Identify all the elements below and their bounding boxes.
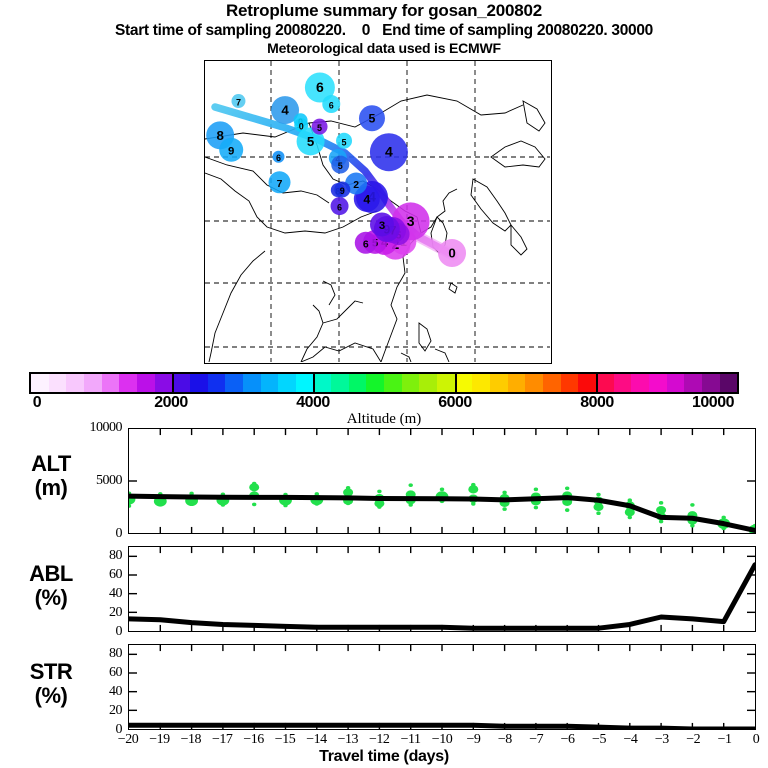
y-tick-label: 40 — [56, 684, 122, 700]
map-marker-label: 3 — [379, 220, 385, 232]
map-marker: 5 — [359, 105, 385, 131]
altitude-scatter-dot — [189, 501, 193, 505]
alt-timeseries-panel — [128, 428, 756, 534]
colorbar-segment — [631, 374, 649, 392]
map-marker-label: 3 — [407, 213, 415, 229]
colorbar-segment — [31, 374, 49, 392]
y-tick-label: 20 — [56, 703, 122, 719]
colorbar-segment — [349, 374, 367, 392]
map-marker: 7 — [269, 171, 291, 193]
altitude-scatter-dot — [502, 507, 506, 511]
y-tick-label: 80 — [56, 548, 122, 564]
map-marker-label: 9 — [340, 186, 345, 196]
colorbar-segment — [243, 374, 261, 392]
y-tick-label: 20 — [56, 605, 122, 621]
x-tick-label: −17 — [212, 732, 232, 748]
map-marker-label: 6 — [363, 239, 369, 250]
colorbar-segment — [543, 374, 561, 392]
altitude-scatter-dot — [440, 487, 444, 491]
altitude-scatter-dot — [565, 486, 569, 490]
y-tick-label: 80 — [56, 646, 122, 662]
y-tick-label: 10000 — [56, 420, 122, 436]
x-tick-label: −19 — [149, 732, 169, 748]
altitude-scatter-dot — [690, 524, 694, 528]
altitude-scatter-dot — [628, 516, 632, 520]
x-tick-label: −18 — [181, 732, 201, 748]
colorbar-segment — [225, 374, 243, 392]
colorbar-segment — [455, 374, 473, 392]
map-marker: 0 — [438, 239, 466, 267]
altitude-scatter-dot — [129, 504, 131, 508]
altitude-scatter-dot — [408, 503, 412, 507]
map-marker-label: 5 — [307, 134, 315, 149]
y-tick-label: 0 — [56, 624, 122, 640]
colorbar-separator — [172, 374, 174, 392]
colorbar-separator — [455, 374, 457, 392]
colorbar-tick-label: 4000 — [296, 394, 330, 412]
altitude-scatter-dot — [158, 502, 162, 506]
colorbar-segment — [261, 374, 279, 392]
colorbar-segment — [137, 374, 155, 392]
colorbar-segment — [314, 374, 332, 392]
colorbar-segment — [102, 374, 120, 392]
colorbar-segment — [667, 374, 685, 392]
y-tick-label: 5000 — [56, 473, 122, 489]
x-tick-label: −16 — [243, 732, 263, 748]
x-tick-label: −12 — [369, 732, 389, 748]
x-tick-label: −14 — [306, 732, 326, 748]
map-marker: 6 — [272, 151, 284, 164]
colorbar-segment — [525, 374, 543, 392]
colorbar-segment — [508, 374, 526, 392]
y-tick-label: 60 — [56, 665, 122, 681]
map-marker: 7 — [231, 94, 245, 108]
map-marker-label: 0 — [448, 246, 455, 261]
x-tick-label: −9 — [466, 732, 480, 748]
colorbar-segment — [596, 374, 614, 392]
map-marker-label: 2 — [353, 180, 359, 191]
map-marker: 4 — [370, 133, 408, 171]
colorbar-segment — [155, 374, 173, 392]
figure-titles: Retroplume summary for gosan_200802 Star… — [0, 0, 768, 57]
page-title: Retroplume summary for gosan_200802 — [0, 0, 768, 21]
y-tick-label: 40 — [56, 586, 122, 602]
altitude-scatter-dot — [471, 502, 475, 506]
colorbar-segment — [190, 374, 208, 392]
map-marker: 6 — [331, 197, 349, 215]
altitude-scatter-dot — [408, 483, 412, 487]
colorbar-segment — [472, 374, 490, 392]
altitude-scatter-dot — [468, 485, 478, 493]
colorbar-segment — [720, 374, 738, 392]
colorbar-segment — [172, 374, 190, 392]
altitude-scatter-dot — [252, 503, 256, 507]
map-marker: 6 — [322, 95, 340, 113]
y-tick-label: 0 — [56, 722, 122, 738]
map-marker-label: 4 — [363, 192, 370, 206]
colorbar-segment — [490, 374, 508, 392]
colorbar-segment — [649, 374, 667, 392]
retroplume-summary-figure: Retroplume summary for gosan_200802 Star… — [0, 0, 768, 768]
colorbar-tick-label: 8000 — [580, 394, 614, 412]
map-marker: 9 — [219, 138, 243, 162]
map-marker-label: 9 — [228, 145, 234, 157]
map-marker-label: 7 — [236, 98, 241, 108]
x-tick-label: −5 — [592, 732, 606, 748]
altitude-scatter-layer — [129, 482, 755, 533]
altitude-scatter-dot — [721, 526, 725, 530]
colorbar-tick-label: 0 — [33, 394, 41, 412]
y-tick-label: 0 — [56, 526, 122, 542]
colorbar-segment — [66, 374, 84, 392]
x-tick-label: −20 — [118, 732, 138, 748]
map-marker-label: 6 — [329, 101, 334, 111]
x-tick-label: −11 — [401, 732, 421, 748]
altitude-scatter-dot — [346, 502, 350, 506]
colorbar-segment — [614, 374, 632, 392]
colorbar-segment — [419, 374, 437, 392]
colorbar-segment — [402, 374, 420, 392]
abl-plot-svg — [129, 547, 755, 631]
colorbar-segment — [561, 374, 579, 392]
abl-mean-line — [129, 565, 755, 628]
map-marker-label: 6 — [337, 203, 342, 213]
alt-plot-svg — [129, 429, 755, 533]
map-marker-label: 6 — [316, 79, 324, 95]
colorbar-segment — [437, 374, 455, 392]
map-marker-label: 5 — [342, 137, 347, 147]
map-marker-label: 4 — [281, 103, 289, 118]
tick-marks — [129, 645, 755, 729]
map-marker: 9 — [334, 182, 350, 198]
altitude-colorbar-section: 0200040006000800010000 Altitude (m) — [0, 370, 768, 422]
map-marker-label: 6 — [276, 153, 281, 163]
y-tick-label: 60 — [56, 567, 122, 583]
x-tick-label: −10 — [432, 732, 452, 748]
x-tick-label: −3 — [655, 732, 669, 748]
map-marker-label: 7 — [277, 179, 283, 190]
map-marker: 5 — [331, 156, 349, 174]
colorbar-segment — [366, 374, 384, 392]
colorbar-segment — [208, 374, 226, 392]
map-svg: 0123455679344452458967640055668975 — [205, 61, 550, 362]
x-tick-label: −7 — [529, 732, 543, 748]
colorbar-segment — [331, 374, 349, 392]
map-marker: 3 — [370, 212, 394, 236]
map-marker-label: 5 — [369, 112, 376, 126]
colorbar-segment — [296, 374, 314, 392]
colorbar-segment — [49, 374, 67, 392]
x-tick-label: −1 — [718, 732, 732, 748]
colorbar-tick-label: 2000 — [154, 394, 188, 412]
x-tick-label: −8 — [498, 732, 512, 748]
str-timeseries-panel — [128, 644, 756, 730]
colorbar-segment — [278, 374, 296, 392]
altitude-scatter-dot — [221, 503, 225, 507]
x-axis-label: Travel time (days) — [0, 748, 768, 766]
x-tick-label: −4 — [623, 732, 637, 748]
altitude-scatter-dot — [659, 501, 663, 505]
altitude-scatter-dot — [690, 503, 694, 507]
map-marker-label: 5 — [317, 123, 322, 133]
altitude-scatter-dot — [249, 483, 259, 491]
colorbar-segment — [84, 374, 102, 392]
altitude-scatter-dot — [502, 491, 506, 495]
altitude-scatter-dot — [593, 503, 603, 511]
x-tick-label: 0 — [753, 732, 760, 748]
altitude-scatter-dot — [565, 508, 569, 512]
altitude-scatter-dot — [534, 506, 538, 510]
altitude-scatter-dot — [315, 502, 319, 506]
map-marker: 5 — [312, 119, 328, 135]
x-tick-label: −15 — [275, 732, 295, 748]
colorbar-tick-label: 10000 — [692, 394, 734, 412]
altitude-scatter-dot — [283, 504, 287, 508]
x-tick-label: −2 — [686, 732, 700, 748]
colorbar-segment — [119, 374, 137, 392]
colorbar-tick-label: 6000 — [438, 394, 472, 412]
str-plot-svg — [129, 645, 755, 729]
altitude-scatter-dot — [377, 490, 381, 494]
map-marker-label: 5 — [338, 161, 343, 171]
x-tick-label: −6 — [561, 732, 575, 748]
map-marker-label: 4 — [385, 144, 393, 160]
abl-timeseries-panel — [128, 546, 756, 632]
altitude-scatter-dot — [659, 520, 663, 524]
altitude-scatter-dot — [377, 505, 381, 509]
sampling-time-subtitle: Start time of sampling 20080220. 0 End t… — [0, 21, 768, 40]
altitude-scatter-dot — [534, 487, 538, 491]
colorbar-segment — [702, 374, 720, 392]
colorbar-segment — [384, 374, 402, 392]
map-marker-label: 8 — [216, 128, 223, 143]
met-data-subtitle: Meteorological data used is ECMWF — [0, 40, 768, 57]
altitude-scatter-dot — [596, 511, 600, 515]
map-marker: 5 — [336, 133, 352, 149]
colorbar-separator — [313, 374, 315, 392]
retroplume-map-panel: 0123455679344452458967640055668975 — [204, 60, 552, 364]
x-tick-label: −13 — [338, 732, 358, 748]
altitude-scatter-dot — [596, 493, 600, 497]
map-marker: 6 — [355, 232, 377, 254]
altitude-colorbar — [29, 372, 739, 394]
colorbar-segment — [578, 374, 596, 392]
colorbar-segment — [684, 374, 702, 392]
colorbar-separator — [596, 374, 598, 392]
